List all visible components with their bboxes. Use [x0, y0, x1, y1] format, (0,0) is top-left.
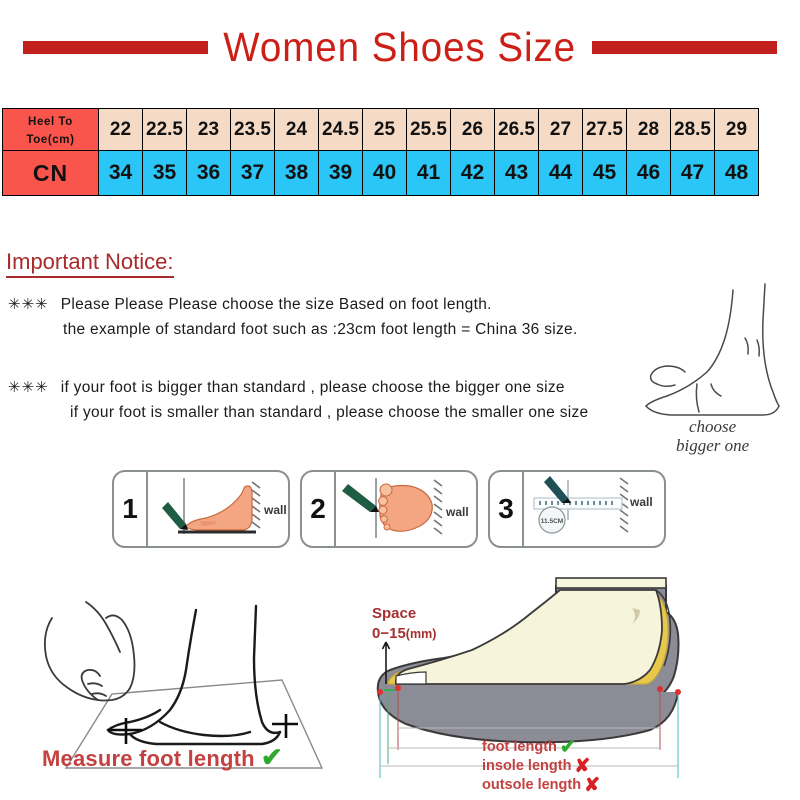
cell-cn: 44	[539, 151, 583, 196]
cell-cn: 45	[583, 151, 627, 196]
cell-cn: 35	[143, 151, 187, 196]
notice-line: ✳✳✳if your foot is bigger than standard …	[8, 375, 588, 400]
cell-cm: 26	[451, 109, 495, 151]
space-label-line-2: 0−15(mm)	[372, 624, 436, 644]
cell-cm: 22	[99, 109, 143, 151]
table-row-cn: CN 34 35 36 37 38 39 40 41 42 43 44 45 4…	[3, 151, 759, 196]
cell-cm: 23.5	[231, 109, 275, 151]
cross-icon: ✘	[574, 757, 590, 776]
cell-cn: 34	[99, 151, 143, 196]
check-icon: ✔	[560, 738, 576, 757]
cross-icon: ✘	[584, 776, 600, 795]
title-rule-right	[592, 41, 777, 54]
cell-cm: 27.5	[583, 109, 627, 151]
page-title-band: Women Shoes Size	[0, 18, 800, 76]
cell-cn: 39	[319, 151, 363, 196]
space-unit: (mm)	[406, 627, 437, 641]
cell-cm: 28.5	[671, 109, 715, 151]
measure-foot-length-caption: Measure foot length✔	[42, 742, 283, 773]
step-panel-3: 3 wall	[488, 470, 666, 548]
cell-cm: 26.5	[495, 109, 539, 151]
space-value: 0−15	[372, 625, 406, 642]
measure-badge: 11.5CM	[541, 518, 563, 525]
step-number: 3	[490, 472, 524, 546]
foot-sole-top-view-wall-icon: wall	[336, 472, 478, 546]
cell-cn: 48	[715, 151, 759, 196]
measure-caption-text: Measure foot length	[42, 746, 255, 771]
row-header-heel-to-toe: Heel To Toe(cm)	[3, 109, 99, 151]
step-illustration-2: wall	[336, 472, 478, 546]
caption-line-2: bigger one	[676, 436, 749, 455]
notice-block-2: ✳✳✳if your foot is bigger than standard …	[8, 375, 588, 425]
cell-cn: 38	[275, 151, 319, 196]
space-label: Space 0−15(mm)	[372, 604, 436, 644]
legend-label: outsole length	[482, 777, 581, 795]
legend-label: insole length	[482, 758, 571, 776]
cell-cn: 40	[363, 151, 407, 196]
cell-cn: 46	[627, 151, 671, 196]
caption-line-1: choose	[676, 417, 749, 436]
notice-text: Please Please Please choose the size Bas…	[61, 296, 492, 313]
foot-side-view-wall-icon: wall	[148, 472, 290, 546]
cell-cm: 28	[627, 109, 671, 151]
cell-cm: 24	[275, 109, 319, 151]
legend-row-foot-length: foot length ✔	[482, 738, 600, 757]
wall-label: wall	[263, 503, 287, 517]
outsole	[378, 692, 678, 742]
length-legend: foot length ✔ insole length ✘ outsole le…	[482, 738, 600, 795]
legend-row-outsole-length: outsole length ✘	[482, 776, 600, 795]
cell-cn: 43	[495, 151, 539, 196]
notice-line: ✳✳✳Please Please Please choose the size …	[8, 292, 578, 317]
step-panel-1: 1 wall	[112, 470, 290, 548]
cell-cm: 25	[363, 109, 407, 151]
cell-cm: 29	[715, 109, 759, 151]
ruler-measure-wall-icon: wall 11.5CM	[524, 472, 666, 546]
important-notice-heading: Important Notice:	[6, 249, 174, 278]
legend-label: foot length	[482, 739, 557, 757]
ankle-cuff	[556, 578, 666, 588]
wall-label: wall	[445, 505, 469, 519]
cell-cn: 41	[407, 151, 451, 196]
legend-row-insole-length: insole length ✘	[482, 757, 600, 776]
row-header-heel-to-toe-label: Heel To Toe(cm)	[26, 116, 74, 146]
bullet-asterisks: ✳✳✳	[8, 379, 49, 396]
cell-cm: 23	[187, 109, 231, 151]
step-number: 2	[302, 472, 336, 546]
page-title: Women Shoes Size	[220, 24, 580, 71]
title-rule-left	[23, 41, 208, 54]
space-label-line-1: Space	[372, 604, 436, 624]
notice-block-1: ✳✳✳Please Please Please choose the size …	[8, 292, 578, 342]
step-illustration-1: wall	[148, 472, 290, 546]
cell-cn: 47	[671, 151, 715, 196]
cell-cm: 25.5	[407, 109, 451, 151]
foot-sketch-caption: choose bigger one	[676, 417, 749, 455]
step-number: 1	[114, 472, 148, 546]
cell-cm: 24.5	[319, 109, 363, 151]
row-header-cn-label: CN	[33, 160, 68, 186]
notice-line: if your foot is smaller than standard , …	[8, 400, 588, 425]
step-panel-2: 2 wall	[300, 470, 478, 548]
cell-cn: 36	[187, 151, 231, 196]
notice-line: the example of standard foot such as :23…	[8, 317, 578, 342]
notice-text: if your foot is bigger than standard , p…	[61, 379, 565, 396]
cell-cm: 22.5	[143, 109, 187, 151]
cell-cn: 42	[451, 151, 495, 196]
table-row-heel-to-toe: Heel To Toe(cm) 22 22.5 23 23.5 24 24.5 …	[3, 109, 759, 151]
wall-label: wall	[629, 495, 653, 509]
cell-cn: 37	[231, 151, 275, 196]
check-icon: ✔	[261, 742, 283, 772]
row-header-cn: CN	[3, 151, 99, 196]
foot-side-sketch-icon	[645, 280, 795, 420]
bullet-asterisks: ✳✳✳	[8, 296, 49, 313]
measuring-steps: 1 wall 2	[112, 470, 666, 548]
cell-cm: 27	[539, 109, 583, 151]
step-illustration-3: wall 11.5CM	[524, 472, 666, 546]
size-chart-table: Heel To Toe(cm) 22 22.5 23 23.5 24 24.5 …	[2, 108, 759, 196]
